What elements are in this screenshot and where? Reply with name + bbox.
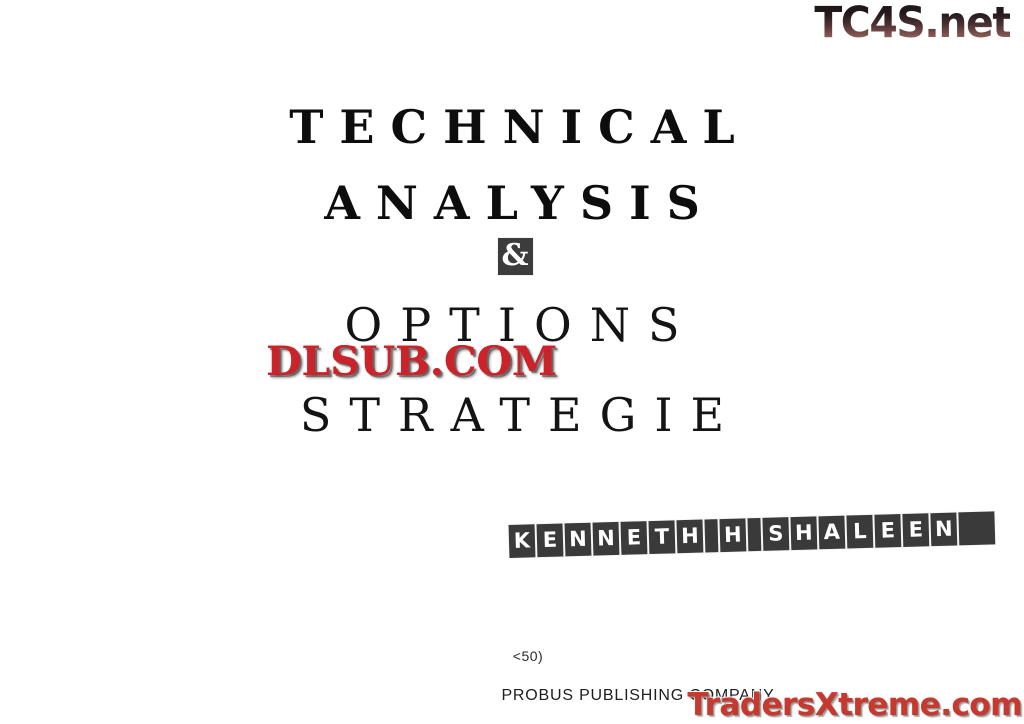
- page-mark: <50): [513, 648, 543, 664]
- cover-title-line-2: ANALYSIS: [0, 176, 1024, 230]
- cover-title-line-4: STRATEGIE: [0, 388, 1024, 442]
- watermark-tc4s: TC4S.net: [814, 2, 1010, 45]
- cover-title-line-1: TECHNICAL: [0, 100, 1024, 154]
- author-tile: [747, 518, 761, 551]
- author-tile: S: [762, 517, 789, 551]
- author-tile: E: [902, 513, 929, 547]
- author-tile: K: [509, 524, 536, 558]
- author-name-plate: KENNETHHSHALEEN: [508, 510, 997, 559]
- author-tile: N: [930, 512, 957, 546]
- cover-ampersand-block: &: [0, 238, 1024, 275]
- author-tile: T: [648, 520, 675, 554]
- author-tile: N: [593, 522, 620, 556]
- page-mark-wrapper: <50): [0, 648, 1024, 664]
- author-tile: E: [620, 521, 647, 555]
- author-tile: E: [874, 514, 901, 548]
- author-tile: L: [846, 515, 873, 549]
- author-tile: H: [676, 520, 703, 554]
- watermark-tradersxtreme: TradersXtreme.com TradersXtreme.com: [687, 687, 1022, 723]
- author-tile: H: [790, 516, 817, 550]
- author-tile: [704, 519, 718, 552]
- cover-title-line-3: OPTIONS: [0, 298, 1024, 352]
- author-tile: N: [565, 523, 592, 557]
- author-tile: E: [537, 523, 564, 557]
- watermark-tradersxtreme-fill: TradersXtreme.com: [687, 687, 1022, 723]
- author-tile: A: [818, 516, 845, 550]
- author-tile: H: [719, 518, 746, 552]
- cover-ampersand: &: [498, 238, 533, 275]
- book-cover-page: TC4S.net TECHNICAL ANALYSIS & OPTIONS DL…: [0, 0, 1024, 724]
- author-tile: [958, 511, 995, 545]
